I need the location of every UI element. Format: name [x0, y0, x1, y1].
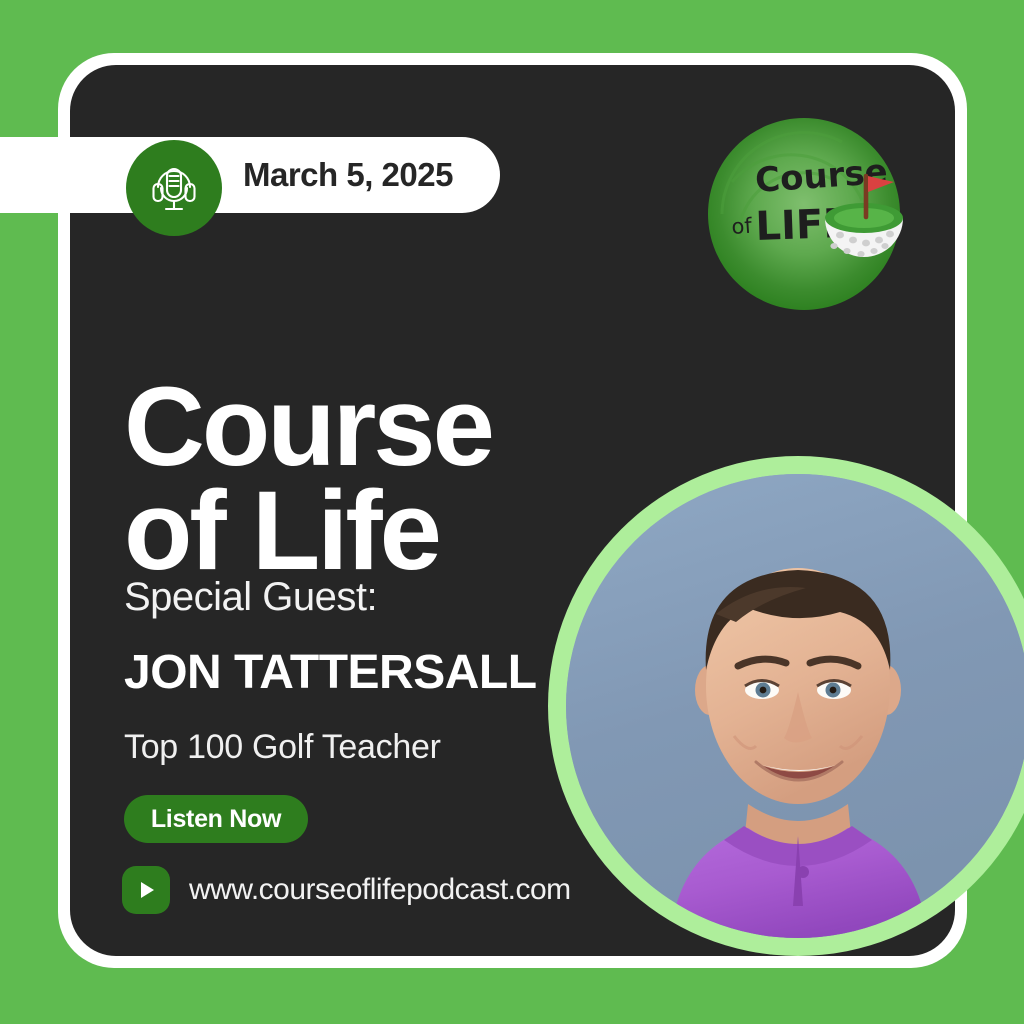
podcast-episode-poster: March 5, 2025 Course o	[0, 0, 1024, 1024]
guest-title: Top 100 Golf Teacher	[124, 728, 441, 767]
play-icon[interactable]	[122, 866, 170, 914]
guest-name: JON TATTERSALL	[124, 645, 537, 700]
date-badge-text: March 5, 2025	[243, 137, 453, 213]
listen-now-button[interactable]: Listen Now	[124, 795, 308, 843]
website-row[interactable]: www.courseoflifepodcast.com	[122, 866, 571, 914]
microphone-headphones-icon	[126, 140, 222, 236]
course-of-life-logo: Course of LIFE	[698, 118, 910, 310]
guest-photo	[566, 474, 1024, 938]
date-badge: March 5, 2025	[0, 137, 500, 213]
svg-text:of: of	[731, 214, 753, 239]
guest-photo-ring	[548, 456, 1024, 956]
guest-label: Special Guest:	[124, 575, 377, 620]
website-url[interactable]: www.courseoflifepodcast.com	[189, 873, 571, 907]
